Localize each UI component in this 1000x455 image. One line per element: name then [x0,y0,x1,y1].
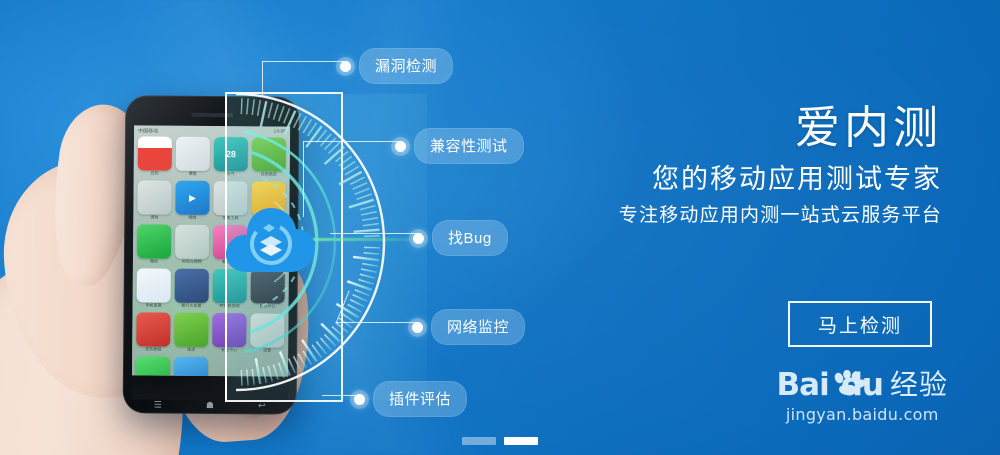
leader-line-2-stem [303,141,304,217]
baidu-paw-icon [831,370,865,400]
leader-line-3 [330,233,417,234]
logo-lockup: Bai du 经验 [777,368,948,402]
app-glyph [136,312,170,346]
leader-line-1-stem [262,61,263,95]
app-glyph: 23 [138,136,172,170]
callout-dot-icon [412,322,423,333]
hero-title: 爱内测 [542,104,942,152]
logo-bai-text: Bai [777,370,829,401]
app-glyph [137,180,171,214]
app-glyph [137,268,171,302]
app-label: 微信 [137,259,171,263]
status-carrier: 中国移动 [138,127,158,134]
callout-dot-icon [395,141,406,152]
app-icon-21[interactable]: 电话 [136,356,170,376]
app-glyph [136,356,170,376]
callout-label[interactable]: 插件评估 [373,381,467,417]
menu-icon[interactable]: ☰ [154,399,162,410]
callout-label[interactable]: 找Bug [432,220,508,256]
app-label: 手机百度 [137,303,171,307]
app-label: 游戏 [137,215,171,219]
logo-cn-text: 经验 [890,371,948,399]
carousel-dot-1[interactable] [462,437,496,445]
callout-network-monitoring[interactable]: 网络监控 [412,309,525,345]
app-icon-13[interactable]: 手机百度 [137,268,171,307]
callout-label[interactable]: 网络监控 [431,309,525,345]
leader-line-4 [336,322,416,323]
callout-dot-icon [413,233,424,244]
carousel-indicators[interactable] [462,437,538,445]
callout-plugin-evaluation[interactable]: 插件评估 [354,381,467,417]
promo-banner: 中国移动 14:06 23日历便签28天气应用商店游戏▶视频常用工具相册微信时尚… [0,0,1000,455]
leader-line-1 [262,61,348,62]
callout-compatibility-test[interactable]: 兼容性测试 [395,128,524,164]
leader-line-2 [303,141,399,142]
app-label: 日历 [138,171,172,175]
callout-find-bug[interactable]: 找Bug [413,220,508,256]
hero-copy: 爱内测 您的移动应用测试专家 专注移动应用内测一站式云服务平台 [542,104,942,228]
cta-test-now-button[interactable]: 马上检测 [788,301,932,347]
callout-dot-icon [354,394,365,405]
app-glyph [137,224,171,258]
callout-label[interactable]: 兼容性测试 [414,128,524,164]
app-icon-5[interactable]: 游戏 [137,180,171,219]
app-icon-9[interactable]: 微信 [137,224,171,263]
front-camera-icon [153,111,159,117]
hero-subtitle: 您的移动应用测试专家 [542,164,942,195]
carousel-dot-2[interactable] [504,437,538,445]
app-icon-17[interactable]: 京东商城 [136,312,170,351]
baidu-jingyan-logo: Bai du 经验 jingyan.baidu.com [777,368,948,424]
callout-label[interactable]: 漏洞检测 [359,48,453,84]
callout-dot-icon [340,61,351,72]
leader-line-5 [322,395,358,396]
hero-tagline: 专注移动应用内测一站式云服务平台 [542,205,942,228]
logo-url: jingyan.baidu.com [777,405,948,424]
callout-vulnerability-detection[interactable]: 漏洞检测 [340,48,453,84]
app-label: 京东商城 [136,347,170,351]
app-icon-1[interactable]: 23日历 [138,136,172,175]
